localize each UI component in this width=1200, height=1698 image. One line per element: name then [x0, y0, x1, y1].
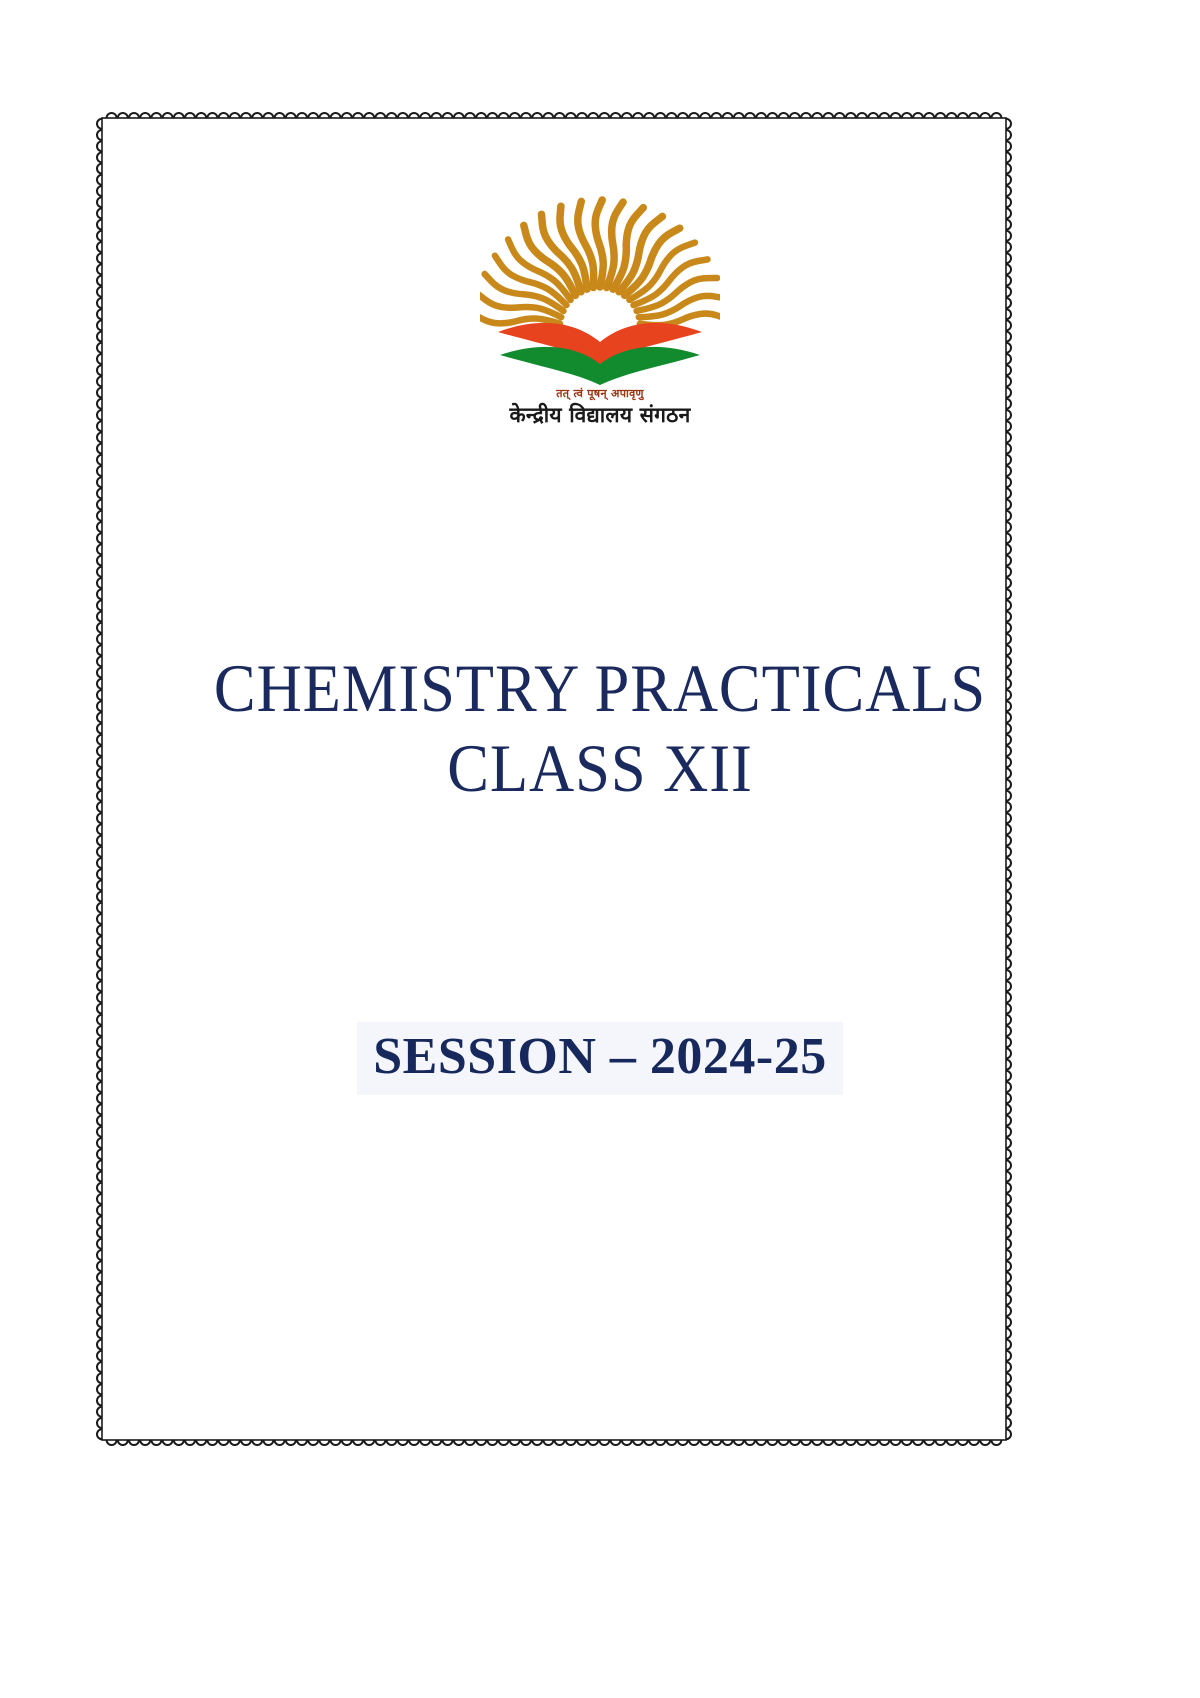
kvs-logo-block: तत् त्वं पूषन् अपावृणु केन्द्रीय विद्याल… — [0, 164, 1200, 427]
cover-page: तत् त्वं पूषन् अपावृणु केन्द्रीय विद्याल… — [0, 0, 1200, 1698]
session-label: SESSION – 2024-25 — [357, 1022, 843, 1095]
kvs-emblem-icon — [480, 164, 720, 394]
logo-motto-text: तत् त्वं पूषन् अपावृणु — [556, 388, 644, 399]
page-title: CHEMISTRY PRACTICALS CLASS XII — [0, 648, 1200, 808]
session-block: SESSION – 2024-25 — [0, 1022, 1200, 1095]
title-line-class: CLASS XII — [48, 728, 1152, 808]
title-line-subject: CHEMISTRY PRACTICALS — [48, 648, 1152, 728]
logo-organisation-name: केन्द्रीय विद्यालय संगठन — [510, 403, 691, 427]
